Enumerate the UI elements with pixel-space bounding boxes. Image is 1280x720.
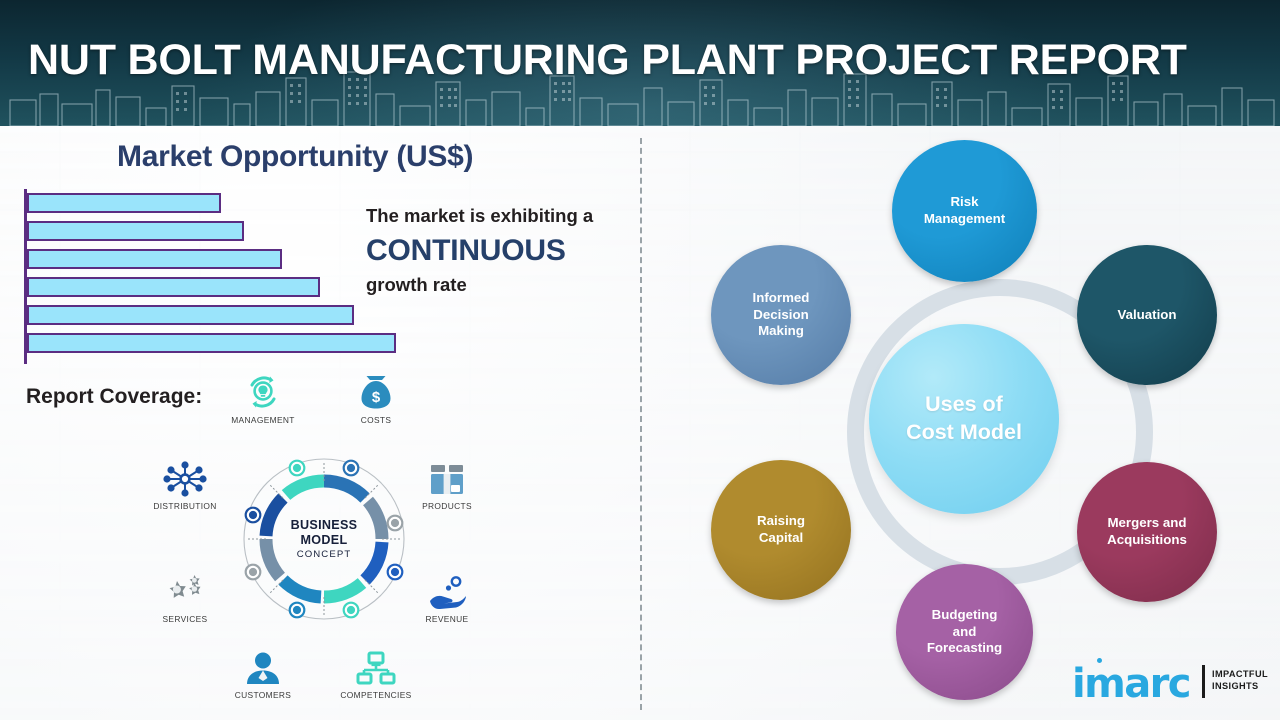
coverage-item-revenue: REVENUE [404,567,490,624]
coverage-item-competencies: COMPETENCIES [333,643,419,700]
coverage-label-revenue: REVENUE [404,614,490,624]
table-row [27,193,221,213]
growth-line-3: growth rate [366,274,636,296]
coverage-item-costs: $ COSTS [333,368,419,425]
node-raising-capital[interactable]: Raising Capital [711,460,851,600]
money-bag-icon: $ [333,368,419,412]
node-center-uses-of-cost-model: Uses of Cost Model [869,324,1059,514]
node-label-line2: Decision [753,307,808,322]
slide-root: NUT BOLT MANUFACTURING PLANT PROJECT REP… [0,0,1280,720]
center-label-line2: Cost Model [906,420,1022,444]
gears-icon [142,567,228,611]
svg-text:$: $ [372,389,381,406]
market-opportunity-bar-chart [24,189,404,364]
coverage-label-costs: COSTS [333,415,419,425]
coverage-label-customers: CUSTOMERS [220,690,306,700]
business-model-diagram: MANAGEMENT $ COSTS [140,368,500,713]
growth-line-2-emphasis: CONTINUOUS [366,232,636,270]
node-label-line1: Informed [753,290,810,305]
hand-coins-icon [404,567,490,611]
table-row [27,277,320,297]
node-risk-management[interactable]: Risk Management [892,140,1037,282]
coverage-item-products: PRODUCTS [404,454,490,511]
imarc-logo: imarc IMPACTFUL INSIGHTS [1072,662,1268,710]
node-valuation[interactable]: Valuation [1077,245,1217,385]
coverage-label-products: PRODUCTS [404,501,490,511]
coverage-item-customers: CUSTOMERS [220,643,306,700]
slide-header: NUT BOLT MANUFACTURING PLANT PROJECT REP… [0,0,1280,126]
page-title: NUT BOLT MANUFACTURING PLANT PROJECT REP… [28,36,1187,85]
table-row [27,305,354,325]
coverage-label-competencies: COMPETENCIES [333,690,419,700]
growth-statement: The market is exhibiting a CONTINUOUS gr… [366,205,636,296]
node-label-line1: Valuation [1117,307,1176,324]
package-box-icon [404,454,490,498]
network-nodes-icon [142,454,228,498]
growth-line-1: The market is exhibiting a [366,205,636,227]
business-model-wheel [238,453,410,625]
node-label-line1: Raising [757,513,805,528]
lightbulb-recycle-icon [220,368,306,412]
node-label-line3: Forecasting [927,640,1002,655]
node-label-line2: Acquisitions [1107,532,1187,547]
coverage-label-services: SERVICES [142,614,228,624]
node-mergers-acquisitions[interactable]: Mergers and Acquisitions [1077,462,1217,602]
coverage-item-management: MANAGEMENT [220,368,306,425]
node-label-line2: Management [924,211,1005,226]
logo-tagline: IMPACTFUL INSIGHTS [1212,668,1268,693]
coverage-label-distribution: DISTRIBUTION [142,501,228,511]
node-budgeting-forecasting[interactable]: Budgeting and Forecasting [896,564,1033,700]
coverage-item-distribution: DISTRIBUTION [142,454,228,511]
table-row [27,221,244,241]
node-label-line2: Capital [759,530,803,545]
coverage-label-management: MANAGEMENT [220,415,306,425]
table-row [27,249,282,269]
org-chart-icon [333,643,419,687]
logo-wordmark: imarc [1072,664,1190,704]
logo-divider-bar [1202,665,1205,698]
node-label-line1: Budgeting [932,607,998,622]
coverage-item-services: SERVICES [142,567,228,624]
person-user-icon [220,643,306,687]
logo-tagline-line1: IMPACTFUL [1212,669,1268,679]
center-label-line1: Uses of [925,392,1003,416]
node-label-line1: Mergers and [1107,515,1186,530]
node-label-line2: and [953,624,977,639]
logo-tagline-line2: INSIGHTS [1212,681,1259,691]
node-label-line3: Making [758,323,804,338]
table-row [27,333,396,353]
node-informed-decision-making[interactable]: Informed Decision Making [711,245,851,385]
market-opportunity-title: Market Opportunity (US$) [117,140,473,174]
node-label-line1: Risk [950,194,978,209]
